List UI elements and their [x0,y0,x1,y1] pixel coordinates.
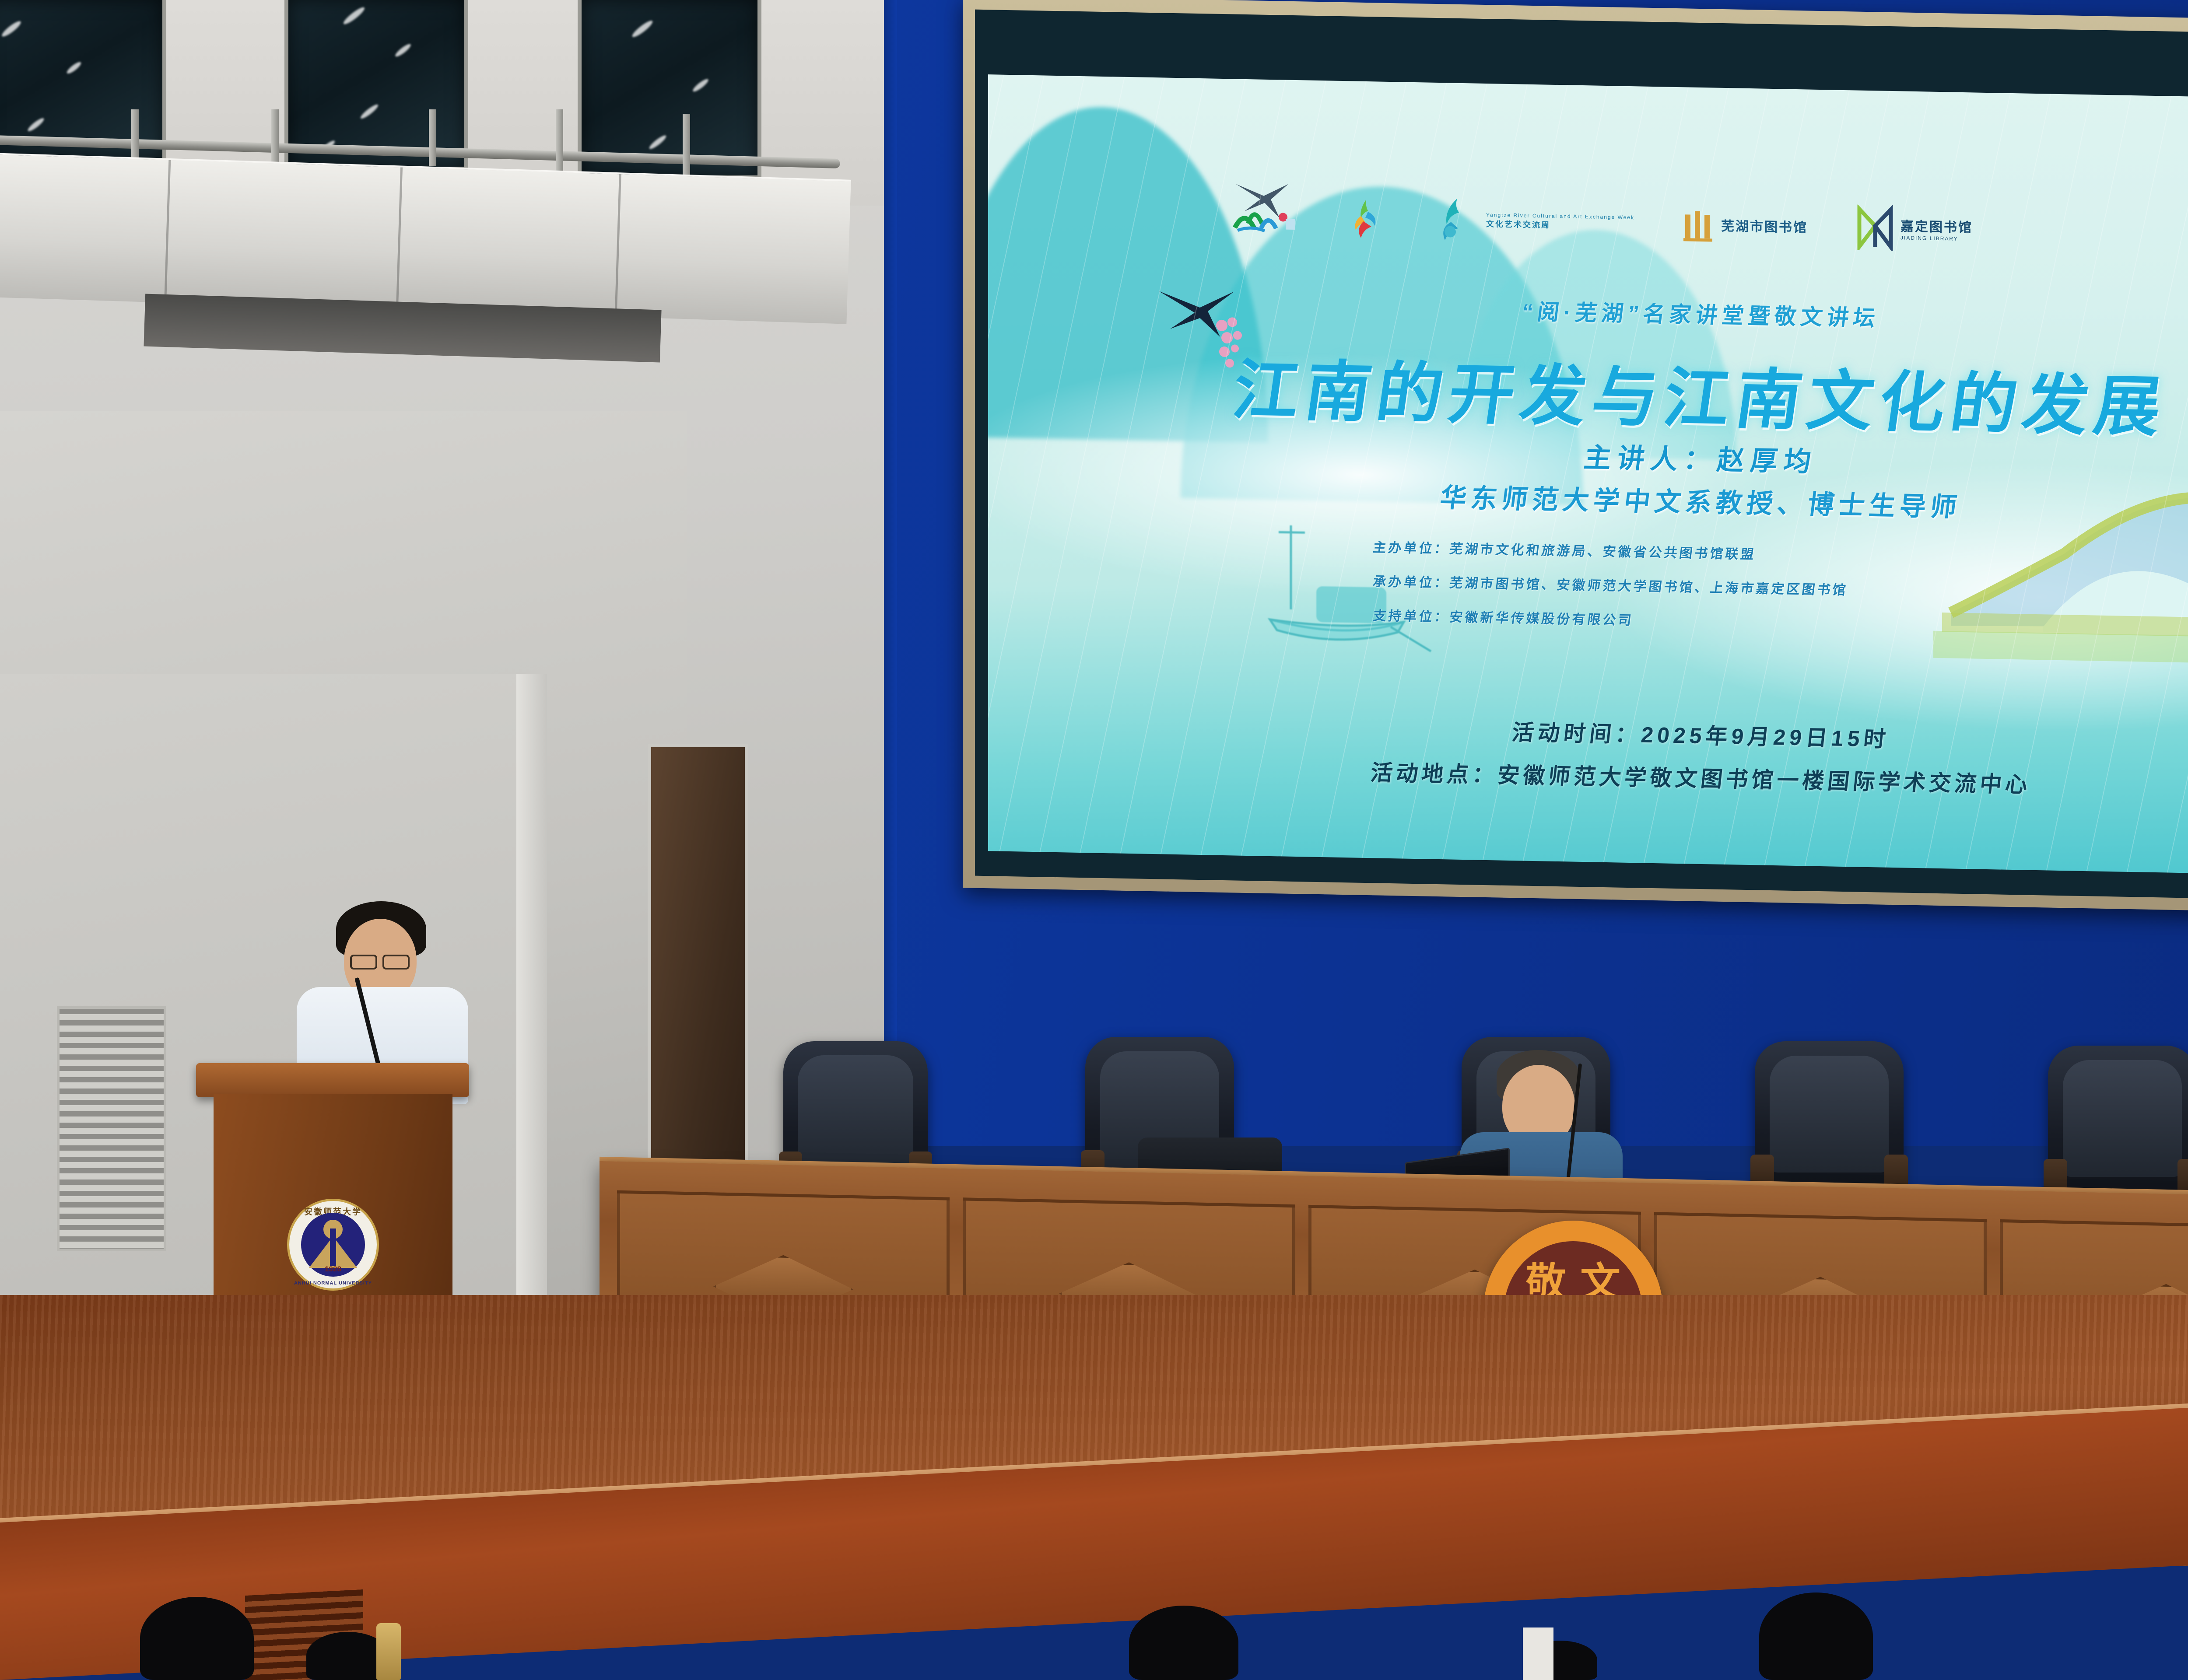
paper-sheet [1523,1627,1553,1680]
conference-chair[interactable] [2048,1046,2188,1207]
emblem-year: 1928 [289,1265,377,1274]
wall-pillar-strip [516,674,547,1304]
jiading-library-logo: 嘉定图书馆 JIADING LIBRARY [1855,204,1973,252]
university-emblem: 安徽师范大学 1928 ANHUI NORMAL UNIVERSITY [287,1199,379,1291]
emblem-bar-shape [330,1228,336,1266]
anhui-tourism-logo: 安徽 [1233,199,1299,234]
organizer-line: 承办单位：芜湖市图书馆、安徽师范大学图书馆、上海市嘉定区图书馆 [1372,570,2188,605]
conference-chair[interactable] [1755,1041,1904,1203]
eyeglasses-icon [350,955,377,969]
wall-rail-post [131,109,139,157]
organizer-line: 支持单位：安徽新华传媒股份有限公司 [1372,605,2188,639]
water-bottle [376,1623,401,1680]
emblem-en-label: ANHUI NORMAL UNIVERSITY [289,1281,377,1286]
podium-top [196,1063,469,1097]
wall-vent [57,1006,166,1251]
screenshot-root: 江淮读书月 安徽 [0,0,2188,1680]
audience-head [1759,1592,1873,1680]
wall-rail-post [683,114,690,179]
flame-logo [1346,196,1386,240]
wall-rail-post [556,109,563,171]
wall-ledge [0,153,851,324]
wall-rail-post [429,109,436,166]
wuhu-library-logo: 芜湖市图书馆 [1682,206,1808,244]
wall-rail-post [271,109,279,162]
audience-head [140,1597,254,1680]
projection-screen[interactable]: 江淮读书月 安徽 [988,74,2188,877]
jiading-library-logo-cn: 嘉定图书馆 [1900,215,1973,236]
audience-head [1129,1606,1238,1680]
yangtze-exchange-week-logo: Yangtze River Cultural and Art Exchange … [1434,196,1634,246]
wuhu-library-logo-label: 芜湖市图书馆 [1721,215,1808,236]
organizers-block: 主办单位：芜湖市文化和旅游局、安徽省公共图书馆联盟 承办单位：芜湖市图书馆、安徽… [1373,536,2188,654]
eyeglasses-icon [382,955,410,969]
event-place: 活动地点：安徽师范大学敬文图书馆一楼国际学术交流中心 [988,748,2188,806]
